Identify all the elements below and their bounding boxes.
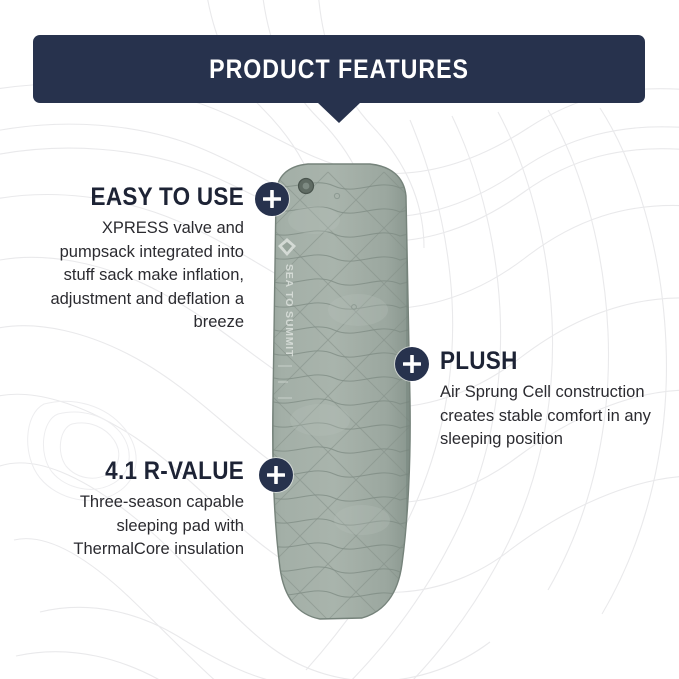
banner-pointer-triangle — [317, 102, 361, 123]
valve-icon — [299, 179, 314, 194]
banner-title: PRODUCT FEATURES — [209, 54, 469, 85]
product-features-banner: PRODUCT FEATURES — [33, 35, 645, 103]
feature-plush: PLUSH Air Sprung Cell construction creat… — [440, 348, 652, 452]
plus-icon — [255, 182, 289, 216]
feature-heading-easy-to-use: EASY TO USE — [50, 184, 244, 210]
svg-text:SEA TO SUMMIT: SEA TO SUMMIT — [283, 264, 295, 357]
plus-badge-plush[interactable] — [395, 347, 429, 381]
feature-body-plush: Air Sprung Cell construction creates sta… — [440, 381, 652, 452]
plus-icon — [259, 458, 293, 492]
sleeping-pad-image: SEA TO SUMMIT — [258, 160, 423, 628]
plus-badge-r-value[interactable] — [259, 458, 293, 492]
feature-body-r-value: Three-season capable sleeping pad with T… — [28, 491, 244, 562]
feature-r-value: 4.1 R-VALUE Three-season capable sleepin… — [28, 458, 244, 562]
plus-badge-easy-to-use[interactable] — [255, 182, 289, 216]
product-features-infographic: PRODUCT FEATURES — [0, 0, 679, 679]
feature-heading-plush: PLUSH — [440, 348, 631, 374]
feature-body-easy-to-use: XPRESS valve and pumpsack integrated int… — [28, 217, 244, 335]
feature-easy-to-use: EASY TO USE XPRESS valve and pumpsack in… — [28, 184, 244, 335]
plus-icon — [395, 347, 429, 381]
feature-heading-r-value: 4.1 R-VALUE — [50, 458, 244, 484]
